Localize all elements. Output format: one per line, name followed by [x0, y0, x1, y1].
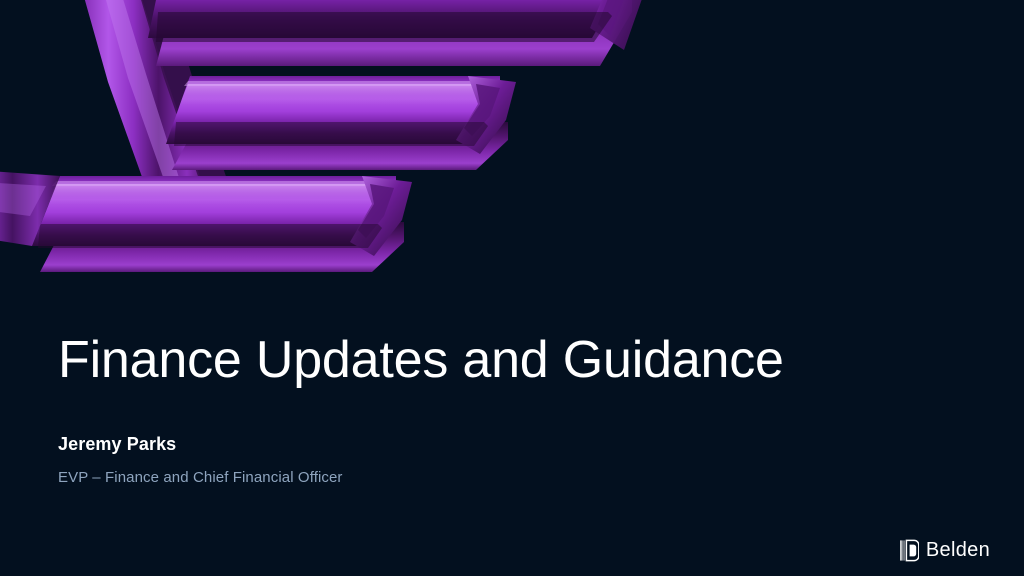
presenter-role: EVP – Finance and Chief Financial Office… [58, 468, 343, 488]
belden-e-ribbon-graphic [0, 0, 660, 314]
presenter-name: Jeremy Parks [58, 433, 176, 455]
title-block: Finance Updates and Guidance Jeremy Park… [58, 330, 918, 390]
page-title: Finance Updates and Guidance [58, 330, 918, 390]
belden-wordmark: Belden [926, 539, 990, 562]
title-slide: Finance Updates and Guidance Jeremy Park… [0, 0, 1024, 576]
belden-logo: Belden [900, 539, 990, 562]
belden-layered-b-mark-icon [900, 539, 919, 562]
